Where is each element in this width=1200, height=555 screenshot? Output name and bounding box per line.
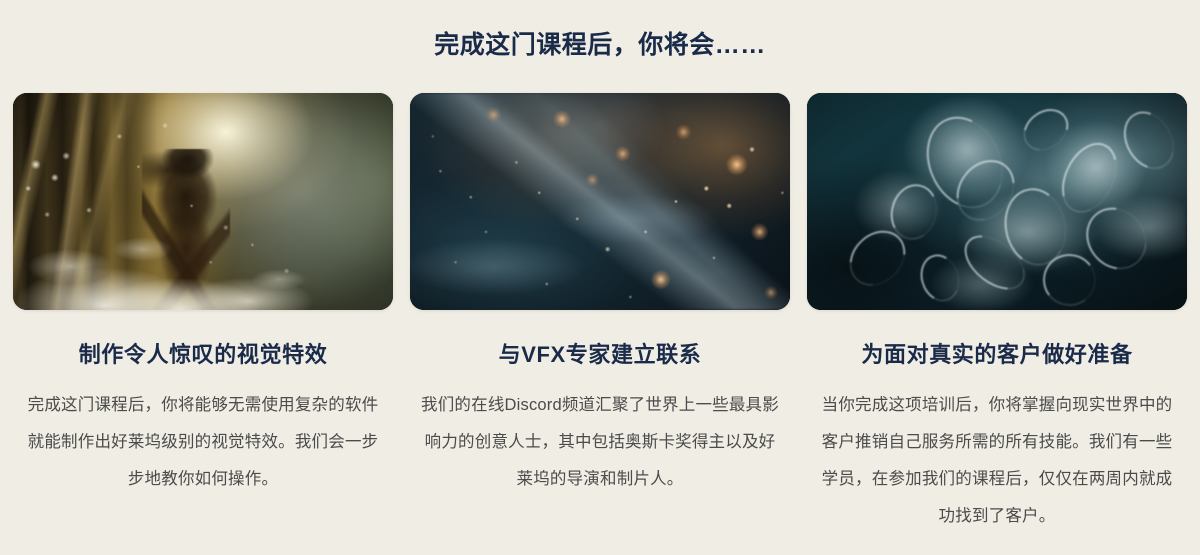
- benefit-card-grid: 制作令人惊叹的视觉特效 完成这门课程后，你将能够无需使用复杂的软件就能制作出好莱…: [13, 93, 1187, 535]
- benefit-title-vfx-skills: 制作令人惊叹的视觉特效: [79, 340, 328, 370]
- benefit-title-vfx-network: 与VFX专家建立联系: [499, 340, 702, 370]
- benefit-card-client-ready: 为面对真实的客户做好准备 当你完成这项培训后，你将掌握向现实世界中的客户推销自己…: [807, 93, 1187, 535]
- benefit-description-vfx-network: 我们的在线Discord频道汇聚了世界上一些最具影响力的创意人士，其中包括奥斯卡…: [419, 387, 781, 498]
- benefit-image-vfx-network: [410, 93, 790, 310]
- benefit-card-vfx-skills: 制作令人惊叹的视觉特效 完成这门课程后，你将能够无需使用复杂的软件就能制作出好莱…: [13, 93, 393, 535]
- benefit-description-vfx-skills: 完成这门课程后，你将能够无需使用复杂的软件就能制作出好莱坞级别的视觉特效。我们会…: [22, 387, 384, 498]
- benefit-image-client-ready: [807, 93, 1187, 310]
- benefit-card-vfx-network: 与VFX专家建立联系 我们的在线Discord频道汇聚了世界上一些最具影响力的创…: [410, 93, 790, 535]
- benefit-image-vfx-skills: [13, 93, 393, 310]
- image-vignette-layer: [410, 93, 790, 310]
- page-title: 完成这门课程后，你将会……: [0, 28, 1200, 62]
- benefits-section: 完成这门课程后，你将会…… 制作令人惊叹的视觉特效 完成这门课程后，你将能够无需…: [0, 0, 1200, 555]
- image-vignette-layer: [13, 93, 393, 310]
- image-vignette-layer: [807, 93, 1187, 310]
- benefit-title-client-ready: 为面对真实的客户做好准备: [861, 340, 1132, 370]
- benefit-description-client-ready: 当你完成这项培训后，你将掌握向现实世界中的客户推销自己服务所需的所有技能。我们有…: [816, 387, 1178, 535]
